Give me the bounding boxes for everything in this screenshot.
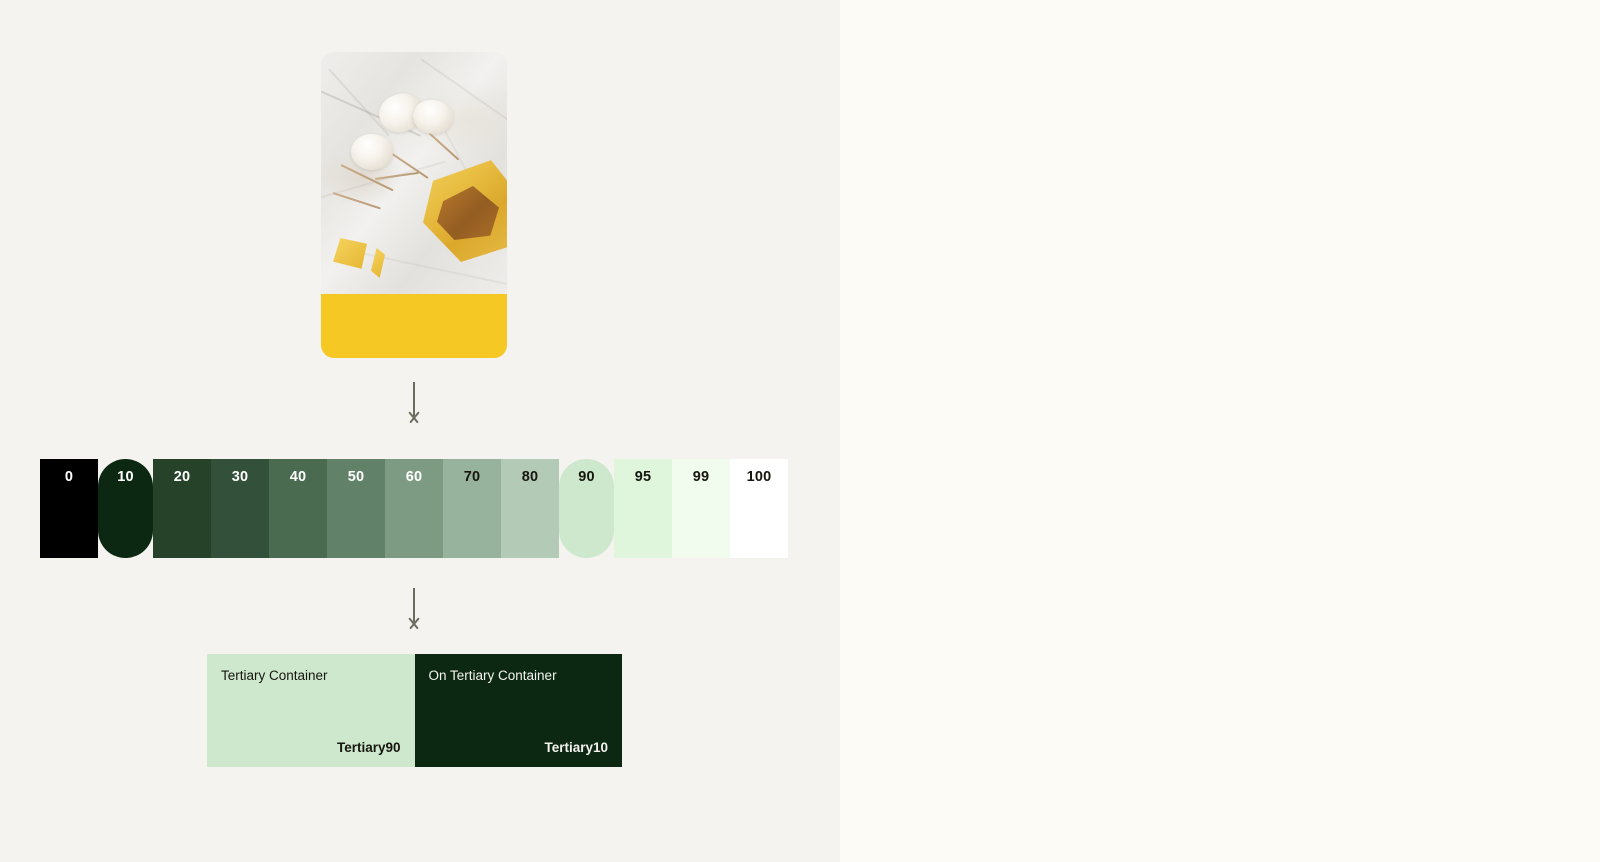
palette-swatch-40[interactable]: 40 — [269, 459, 327, 558]
arrow-source-to-palette-icon — [404, 382, 424, 428]
palette-swatch-100[interactable]: 100 — [730, 459, 788, 558]
palette-panel: 01020304050607080909599100 Tertiary Cont… — [0, 0, 840, 862]
role-card-token: Tertiary10 — [429, 740, 609, 755]
palette-swatch-label: 99 — [693, 469, 710, 485]
palette-swatch-20[interactable]: 20 — [153, 459, 211, 558]
screenshot-root: 01020304050607080909599100 Tertiary Cont… — [0, 0, 1600, 862]
palette-swatch-label: 60 — [406, 469, 423, 485]
source-image-card[interactable] — [321, 52, 507, 358]
palette-swatch-label: 10 — [117, 469, 134, 485]
palette-swatch-label: 40 — [290, 469, 307, 485]
palette-swatch-95[interactable]: 95 — [614, 459, 672, 558]
palette-swatch-70[interactable]: 70 — [443, 459, 501, 558]
role-card-on-tertiary-container[interactable]: On Tertiary ContainerTertiary10 — [415, 654, 623, 767]
amber-chip — [371, 248, 385, 278]
palette-swatch-label: 50 — [348, 469, 365, 485]
palette-swatch-90[interactable]: 90 — [559, 459, 614, 558]
palette-swatch-label: 70 — [464, 469, 481, 485]
extracted-color-swatch — [321, 294, 507, 358]
palette-swatch-30[interactable]: 30 — [211, 459, 269, 558]
palette-swatch-label: 95 — [635, 469, 652, 485]
palette-swatch-label: 20 — [174, 469, 191, 485]
palette-swatch-label: 30 — [232, 469, 249, 485]
source-photo — [321, 52, 507, 294]
role-card-title: On Tertiary Container — [429, 668, 609, 684]
tonal-palette: 01020304050607080909599100 — [40, 459, 789, 558]
color-role-cards: Tertiary ContainerTertiary90On Tertiary … — [207, 654, 622, 767]
palette-swatch-0[interactable]: 0 — [40, 459, 98, 558]
role-card-token: Tertiary90 — [221, 740, 401, 755]
arrow-palette-to-roles-icon — [404, 588, 424, 634]
palette-swatch-99[interactable]: 99 — [672, 459, 730, 558]
palette-swatch-50[interactable]: 50 — [327, 459, 385, 558]
role-card-title: Tertiary Container — [221, 668, 401, 684]
role-card-tertiary-container[interactable]: Tertiary ContainerTertiary90 — [207, 654, 415, 767]
palette-swatch-80[interactable]: 80 — [501, 459, 559, 558]
palette-swatch-60[interactable]: 60 — [385, 459, 443, 558]
dried-flower — [349, 132, 395, 172]
palette-swatch-label: 80 — [522, 469, 539, 485]
preview-panel: 9:30 Plant Ca — [840, 0, 1600, 862]
palette-swatch-label: 100 — [747, 469, 772, 485]
palette-swatch-10[interactable]: 10 — [98, 459, 153, 558]
palette-swatch-label: 0 — [65, 469, 73, 485]
palette-swatch-label: 90 — [578, 469, 595, 485]
amber-chip — [333, 238, 367, 270]
